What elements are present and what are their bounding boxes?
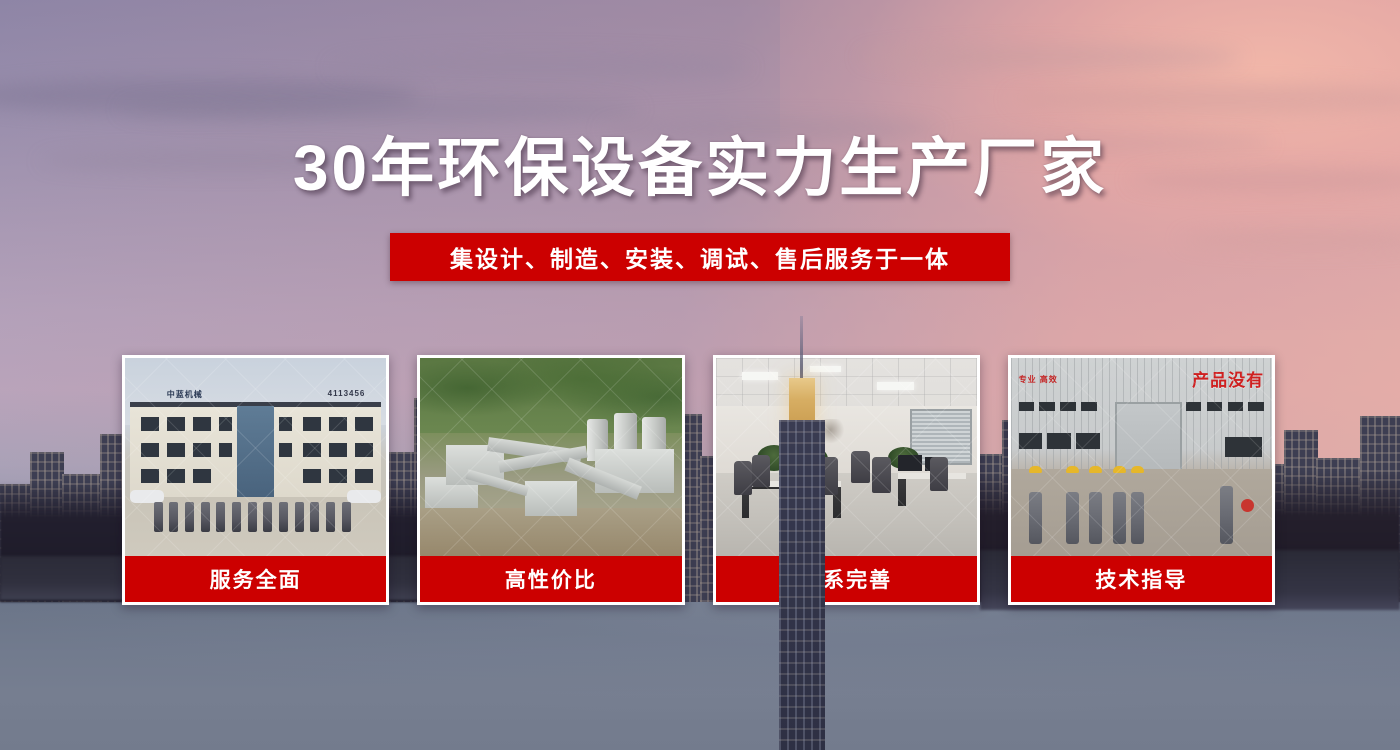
building-phone-label: 4113456 <box>328 389 366 398</box>
card-label-banner: 高性价比 <box>420 556 681 602</box>
factory-sign-text: 产品没有 <box>1192 366 1264 391</box>
cloud <box>120 96 640 122</box>
building-signage-label: 中蓝机械 <box>167 389 203 400</box>
card-label-text: 高性价比 <box>505 564 597 594</box>
feature-card-guidance[interactable]: 产品没有 专业 高效 <box>1008 355 1275 605</box>
landmark-skyscraper <box>779 420 825 750</box>
cloud <box>860 44 1240 70</box>
card-label-text: 技术指导 <box>1095 564 1187 594</box>
card-label-banner: 体系完善 <box>716 556 977 602</box>
factory-sign-small-text: 专业 高效 <box>1019 374 1058 385</box>
cloud <box>330 52 750 82</box>
aerial-production-plant-photo <box>420 358 681 556</box>
feature-card-value[interactable]: 高性价比 <box>417 355 684 605</box>
office-interior-staff-photo <box>716 358 977 556</box>
card-label-banner: 服务全面 <box>125 556 386 602</box>
card-label-banner: 技术指导 <box>1011 556 1272 602</box>
subtitle-banner: 集设计、制造、安装、调试、售后服务于一体 <box>390 233 1010 281</box>
feature-card-service[interactable]: 中蓝机械 4113456 <box>122 355 389 605</box>
workshop-workers-briefing-photo: 产品没有 专业 高效 <box>1011 358 1272 556</box>
feature-card-system[interactable]: 体系完善 <box>713 355 980 605</box>
tower-antenna <box>800 316 803 382</box>
subtitle-text: 集设计、制造、安装、调试、售后服务于一体 <box>450 240 950 274</box>
hero-banner: 30年环保设备实力生产厂家 集设计、制造、安装、调试、售后服务于一体 中蓝机械 … <box>0 0 1400 750</box>
card-label-text: 服务全面 <box>210 564 302 594</box>
page-title: 30年环保设备实力生产厂家 <box>0 136 1400 200</box>
feature-card-list: 中蓝机械 4113456 <box>122 355 1275 605</box>
company-headquarters-building-photo: 中蓝机械 4113456 <box>125 358 386 556</box>
